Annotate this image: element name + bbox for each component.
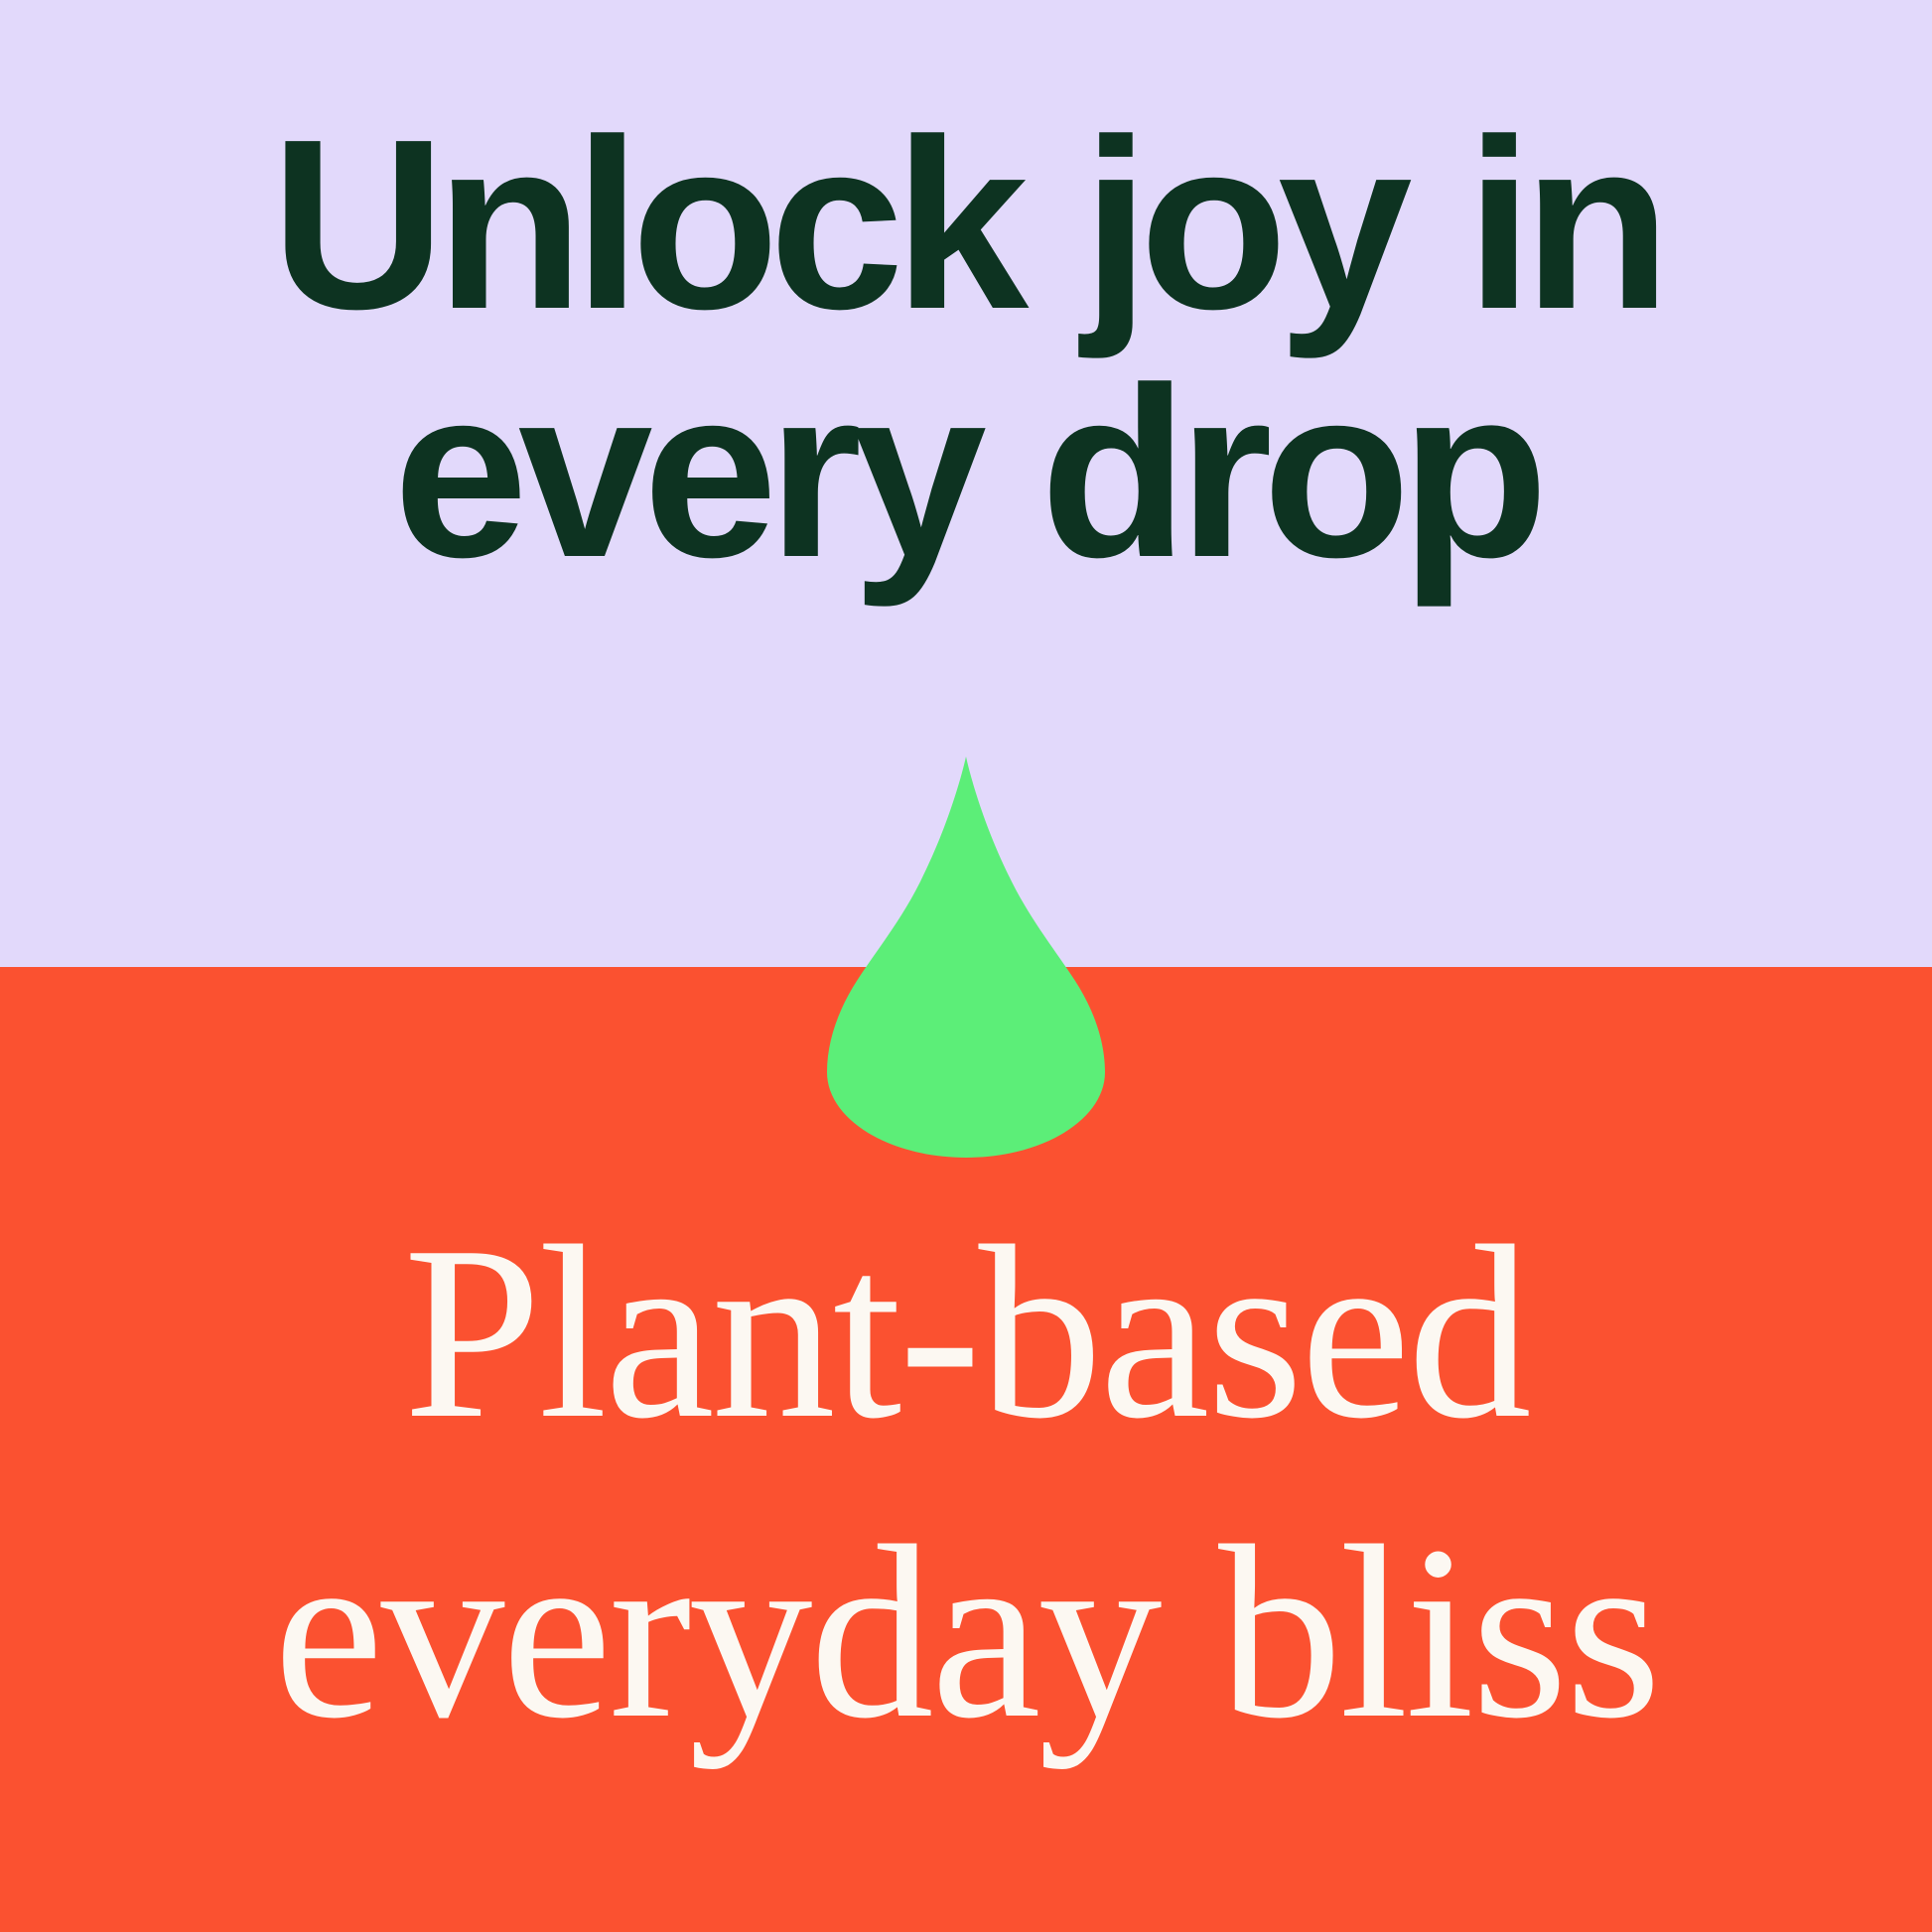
- subhead-line-1: Plant-based: [0, 1209, 1932, 1457]
- water-droplet-icon: [827, 757, 1105, 1158]
- headline-line-1: Unlock joy in: [0, 103, 1932, 345]
- poster-canvas: Unlock joy in every drop Plant-based eve…: [0, 0, 1932, 1932]
- subhead: Plant-based everyday bliss: [0, 1209, 1932, 1757]
- headline: Unlock joy in every drop: [0, 103, 1932, 594]
- subhead-line-2: everyday bliss: [0, 1509, 1932, 1757]
- water-droplet-graphic: [827, 757, 1105, 1158]
- headline-line-2: every drop: [0, 351, 1932, 594]
